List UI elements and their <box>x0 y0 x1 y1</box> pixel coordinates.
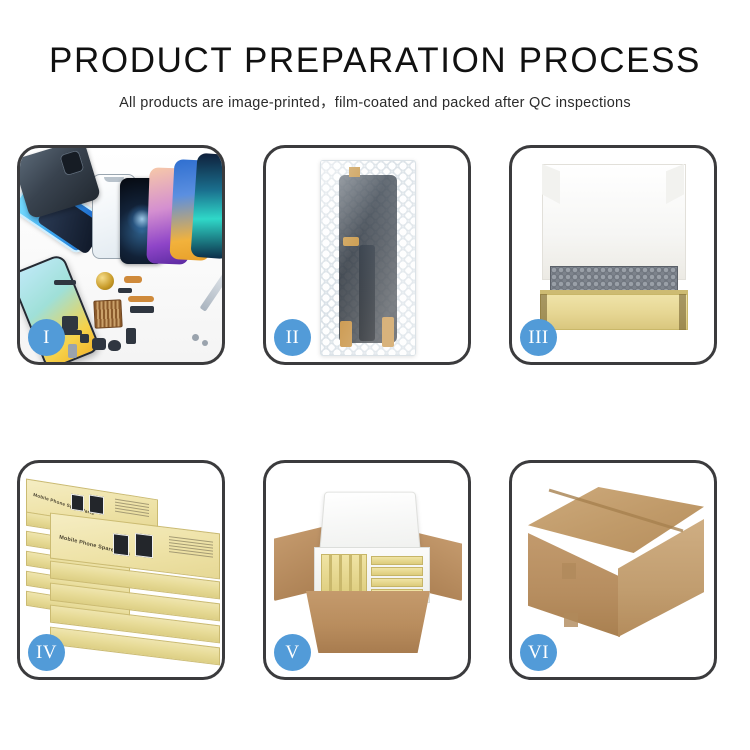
carton-front-wall-icon <box>306 591 430 653</box>
screwdriver-icon <box>200 266 222 311</box>
part-strip-icon <box>54 280 76 285</box>
step-panel-3[interactable]: III <box>509 145 717 365</box>
spec-lines-icon <box>169 536 213 559</box>
display-cable-icon <box>359 245 375 341</box>
vibrator-icon <box>92 338 106 350</box>
poster-header: PRODUCT PREPARATION PROCESS All products… <box>0 0 750 112</box>
bubble-wrap-bag-icon <box>320 160 416 356</box>
step-badge-5: V <box>274 634 311 671</box>
step-badge-2: II <box>274 319 311 356</box>
connector-left-icon <box>340 321 352 347</box>
board-connector-icon <box>130 306 154 313</box>
phone-photo-icon <box>135 533 153 558</box>
flex-cable-icon <box>124 276 142 283</box>
page-subtitle: All products are image-printed，film-coat… <box>0 91 750 112</box>
box-edge-right-icon <box>679 294 686 330</box>
yellow-box-icon <box>371 556 423 565</box>
process-step-grid: I II <box>17 145 733 683</box>
carton-tape-icon <box>562 563 576 579</box>
long-flex-icon <box>128 296 154 302</box>
screw-bracket-icon <box>80 334 89 343</box>
box-label-text: Mobile Phone Spare Parts <box>33 492 95 516</box>
logic-board-chip-icon <box>93 299 122 328</box>
sim-tray-icon <box>68 344 77 358</box>
phone-photo-icon <box>89 495 104 515</box>
page-title: PRODUCT PREPARATION PROCESS <box>0 40 750 82</box>
yellow-box-icon <box>371 567 423 576</box>
step-badge-4: IV <box>28 634 65 671</box>
phone-photo-icon <box>71 494 84 512</box>
step-panel-4[interactable]: Mobile Phone Spare Parts Mobile Phone Sp… <box>17 460 225 680</box>
button-cable-icon <box>126 328 136 344</box>
step-panel-2[interactable]: II <box>263 145 471 365</box>
yellow-box-icon <box>371 578 423 587</box>
earpiece-icon <box>108 340 121 351</box>
screw-icon <box>202 340 208 346</box>
camera-module-icon <box>62 316 78 330</box>
foam-lid-icon <box>319 492 420 552</box>
step-badge-3: III <box>520 319 557 356</box>
small-connector-icon <box>118 288 132 293</box>
step-panel-5[interactable]: V <box>263 460 471 680</box>
tape-piece-icon <box>343 237 359 246</box>
step-badge-6: VI <box>520 634 557 671</box>
step-panel-6[interactable]: VI <box>509 460 717 680</box>
step-panel-1[interactable]: I <box>17 145 225 365</box>
screw-icon <box>192 334 199 341</box>
spec-lines-icon <box>115 499 149 519</box>
yellow-box-front-icon <box>540 294 688 330</box>
speaker-module-icon <box>96 272 114 290</box>
box-lid-icon <box>542 164 686 280</box>
step-badge-1: I <box>28 319 65 356</box>
carton-tape-icon <box>564 613 578 627</box>
connector-right-icon <box>382 317 394 347</box>
phone-photo-icon <box>113 533 129 556</box>
tape-piece-icon <box>349 167 360 177</box>
poster-root: PRODUCT PREPARATION PROCESS All products… <box>0 0 750 750</box>
